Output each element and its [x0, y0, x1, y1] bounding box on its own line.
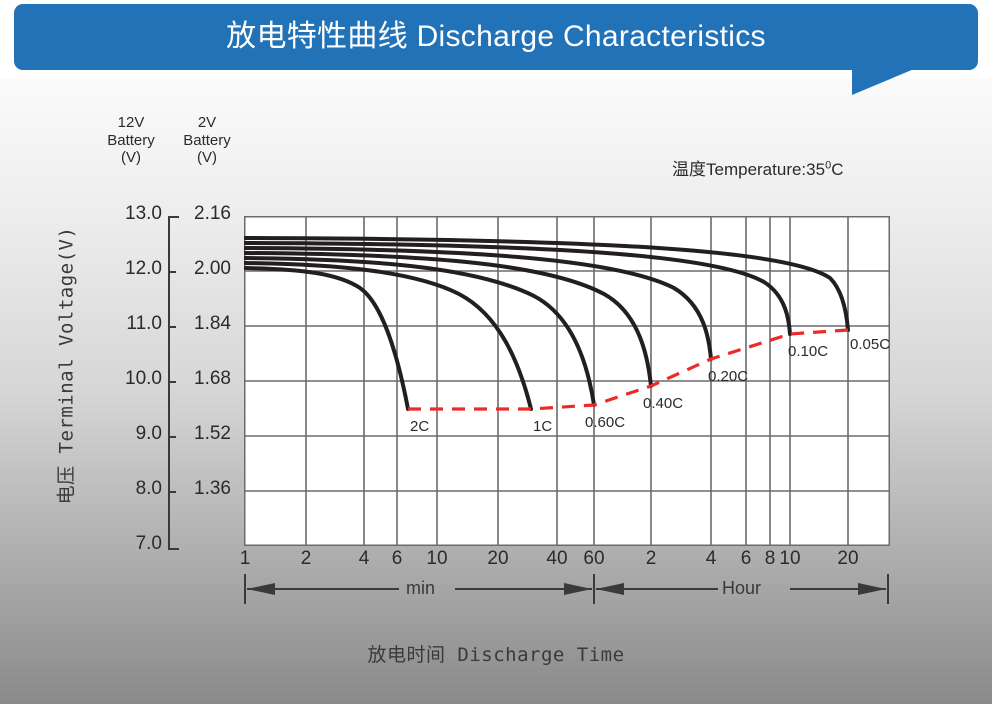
ruler-min-left-arrow [247, 583, 275, 595]
y-axis-tick-mark-2 [168, 326, 176, 328]
y-axis-tick-mark-3 [168, 381, 176, 383]
curve-label-2C: 2C [410, 418, 429, 435]
column-header-12v-line3: (V) [96, 149, 166, 167]
min-section-label: min [406, 578, 435, 599]
column-header-12v-line1: 12V [96, 114, 166, 132]
y-tick-12v-7-0: 7.0 [100, 533, 162, 555]
y-axis-title: 电压 Terminal Voltage(V) [52, 201, 79, 531]
x-axis-title: 放电时间 Discharge Time [0, 640, 992, 667]
plot-area: 2C1C0.60C0.40C0.20C0.10C0.05C [244, 216, 890, 546]
x-tick-min-60: 60 [574, 548, 614, 570]
x-tick-min-10: 10 [417, 548, 457, 570]
ruler-min-right-arrow [564, 583, 592, 595]
page-title: 放电特性曲线 Discharge Characteristics [226, 22, 766, 52]
column-header-2v: 2V Battery (V) [172, 114, 242, 167]
hour-section-label: Hour [722, 578, 761, 599]
ruler-hour-right-arrow [858, 583, 886, 595]
x-tick-min-1: 1 [225, 548, 265, 570]
curve-label-1C: 1C [533, 418, 552, 435]
curve-label-0-05C: 0.05C [850, 336, 890, 353]
y-axis-tick-mark-5 [168, 491, 176, 493]
x-tick-hour-2: 2 [631, 548, 671, 570]
x-tick-min-40: 40 [537, 548, 577, 570]
temperature-text: 温度Temperature:35 [672, 160, 825, 179]
y-tick-2v-1-36: 1.36 [173, 478, 231, 500]
header-banner: 放电特性曲线 Discharge Characteristics [14, 4, 978, 70]
y-tick-12v-10-0: 10.0 [100, 368, 162, 390]
y-axis-tick-mark-0 [168, 216, 176, 218]
temperature-annotation: 温度Temperature:350C [672, 155, 843, 180]
y-tick-12v-11-0: 11.0 [100, 313, 162, 335]
y-tick-12v-8-0: 8.0 [100, 478, 162, 500]
y-tick-2v-2-00: 2.00 [173, 258, 231, 280]
column-header-12v: 12V Battery (V) [96, 114, 166, 167]
curve-label-0-20C: 0.20C [708, 368, 748, 385]
y-axis-bracket [168, 216, 179, 550]
y-tick-2v-1-68: 1.68 [173, 368, 231, 390]
y-tick-2v-1-52: 1.52 [173, 423, 231, 445]
x-tick-hour-10: 10 [770, 548, 810, 570]
x-tick-hour-20: 20 [828, 548, 868, 570]
y-axis-tick-mark-1 [168, 271, 176, 273]
y-tick-12v-12-0: 12.0 [100, 258, 162, 280]
column-header-12v-line2: Battery [96, 132, 166, 150]
temperature-unit: C [831, 160, 843, 179]
chart-page: 放电特性曲线 Discharge Characteristics 12V Bat… [0, 0, 992, 704]
x-tick-min-2: 2 [286, 548, 326, 570]
column-header-2v-line1: 2V [172, 114, 242, 132]
y-tick-12v-9-0: 9.0 [100, 423, 162, 445]
y-tick-12v-13-0: 13.0 [100, 203, 162, 225]
column-header-2v-line3: (V) [172, 149, 242, 167]
y-tick-2v-1-84: 1.84 [173, 313, 231, 335]
banner-tail-pointer [852, 69, 914, 95]
curve-label-0-40C: 0.40C [643, 395, 683, 412]
ruler-hour-left-arrow [596, 583, 624, 595]
curve-label-0-60C: 0.60C [585, 414, 625, 431]
x-tick-min-20: 20 [478, 548, 518, 570]
x-tick-hour-4: 4 [691, 548, 731, 570]
y-tick-2v-2-16: 2.16 [173, 203, 231, 225]
axis-unit-rulers: min Hour [0, 572, 992, 612]
y-axis-tick-mark-4 [168, 436, 176, 438]
column-header-2v-line2: Battery [172, 132, 242, 150]
x-tick-min-6: 6 [377, 548, 417, 570]
curve-label-0-10C: 0.10C [788, 343, 828, 360]
